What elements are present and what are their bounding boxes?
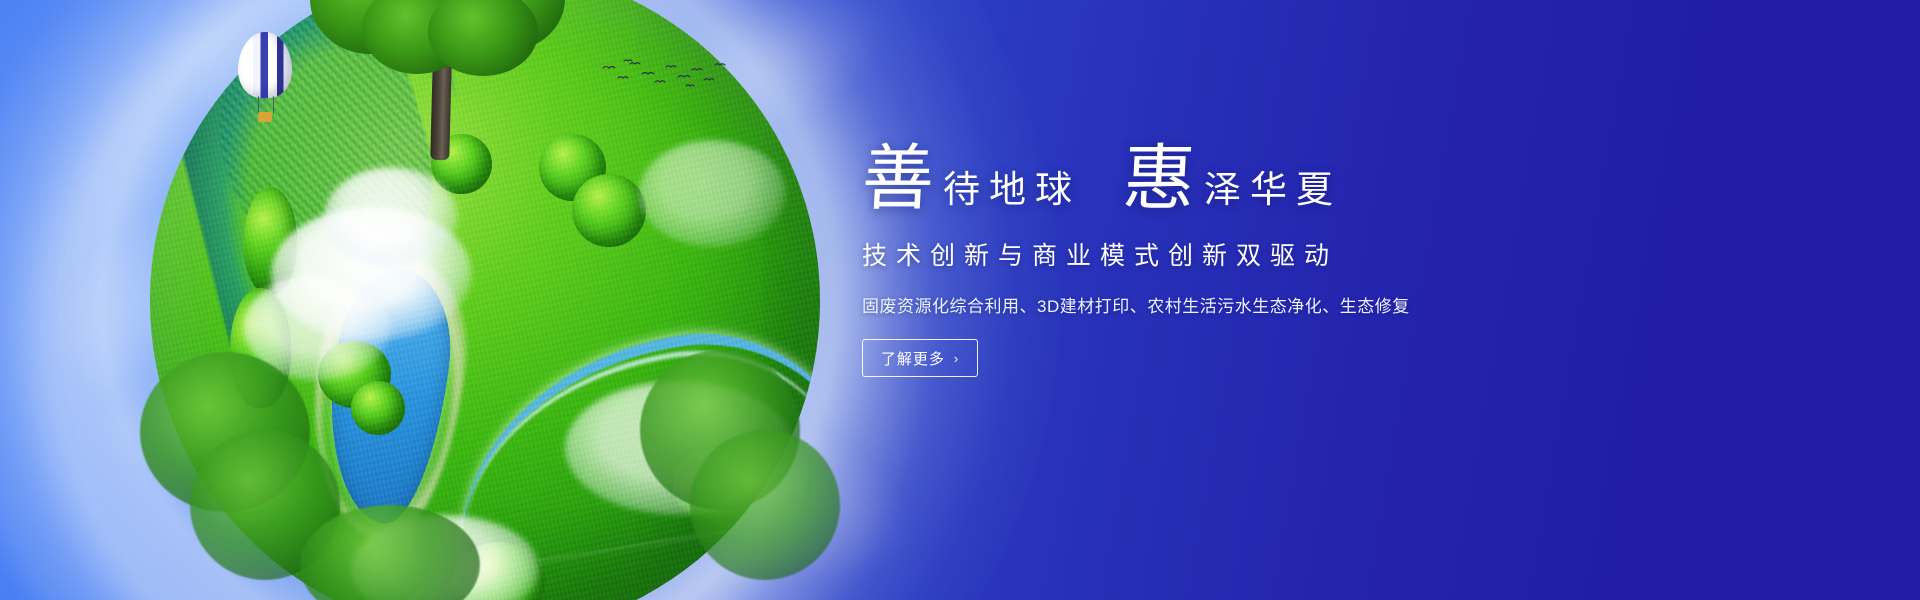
balloon-basket bbox=[258, 112, 272, 122]
tree-canopy-icon bbox=[572, 174, 646, 248]
rim-tree-icon bbox=[690, 430, 840, 580]
banner-content: 善 待地球 惠 泽华夏 技术创新与商业模式创新双驱动 固废资源化综合利用、3D建… bbox=[862, 128, 1662, 377]
learn-more-button[interactable]: 了解更多 › bbox=[862, 339, 978, 377]
learn-more-label: 了解更多 bbox=[881, 348, 945, 369]
tree-canopy-icon bbox=[244, 187, 298, 294]
large-tree-icon bbox=[300, 0, 570, 134]
banner-description: 固废资源化综合利用、3D建材打印、农村生活污水生态净化、生态修复 bbox=[862, 292, 1662, 317]
surface-cloud bbox=[271, 207, 472, 341]
surface-cloud bbox=[324, 167, 458, 268]
surface-cloud bbox=[639, 140, 786, 247]
tree-canopy-icon bbox=[539, 134, 606, 201]
bird-flock-icon bbox=[600, 58, 730, 92]
headline-brush-char-2: 惠 bbox=[1121, 142, 1198, 214]
chevron-right-icon: › bbox=[954, 351, 959, 366]
headline-sub-2: 泽华夏 bbox=[1204, 171, 1342, 214]
banner-subtitle: 技术创新与商业模式创新双驱动 bbox=[862, 236, 1662, 272]
headline-sub-1: 待地球 bbox=[943, 171, 1081, 214]
hot-air-balloon-icon bbox=[238, 32, 292, 128]
tree-canopy-icon bbox=[318, 341, 392, 408]
banner-headline: 善 待地球 惠 泽华夏 bbox=[862, 128, 1662, 214]
hero-banner: 善 待地球 惠 泽华夏 技术创新与商业模式创新双驱动 固废资源化综合利用、3D建… bbox=[0, 0, 1920, 600]
balloon-envelope bbox=[238, 32, 292, 98]
tree-canopy-icon bbox=[351, 381, 405, 435]
headline-brush-char-1: 善 bbox=[860, 142, 937, 214]
